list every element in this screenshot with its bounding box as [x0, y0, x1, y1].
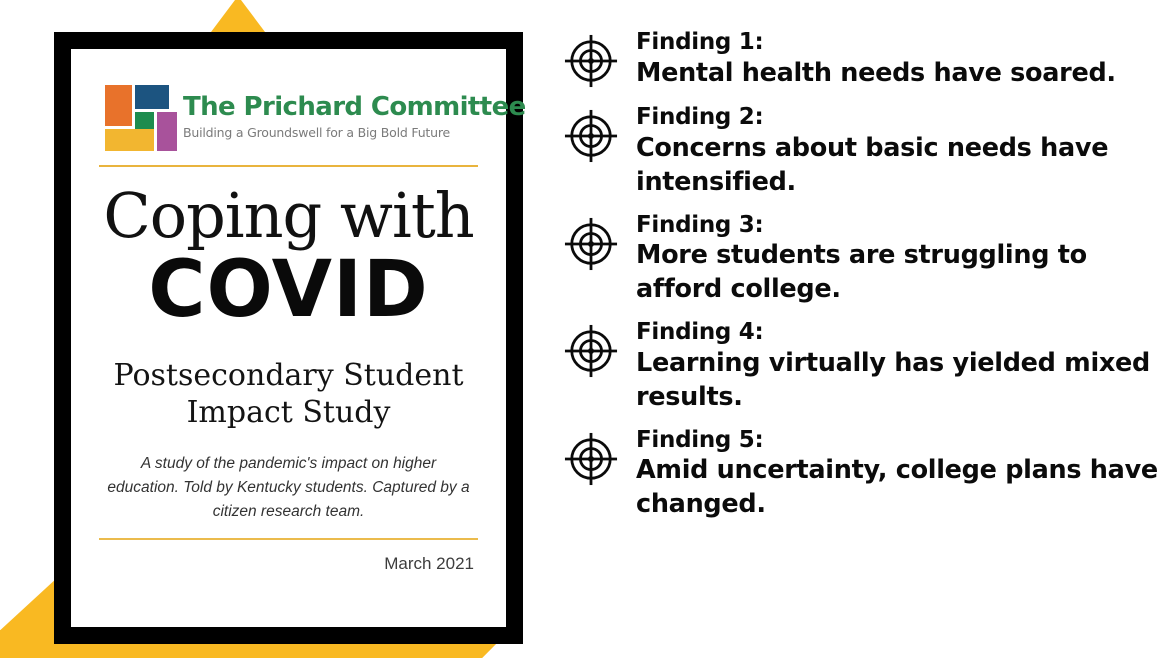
finding-statement: Mental health needs have soared. — [636, 58, 1116, 88]
finding-text: Finding 2: Concerns about basic needs ha… — [636, 101, 1170, 200]
crosshair-target-icon — [560, 213, 622, 275]
crosshair-target-icon — [560, 105, 622, 167]
list-item: Finding 1: Mental health needs have soar… — [560, 26, 1170, 92]
finding-text: Finding 3: More students are struggling … — [636, 209, 1170, 308]
finding-text: Finding 1: Mental health needs have soar… — [636, 26, 1116, 91]
divider-top — [99, 165, 478, 167]
finding-label: Finding 1: — [636, 29, 763, 55]
crosshair-target-icon — [560, 428, 622, 490]
crosshair-target-icon — [560, 320, 622, 382]
finding-text: Finding 4: Learning virtually has yielde… — [636, 316, 1170, 415]
finding-statement: Amid uncertainty, college plans have cha… — [636, 455, 1158, 519]
report-cover-inner: The Prichard Committee Building a Ground… — [71, 49, 506, 627]
logo-wordmark: The Prichard Committee Building a Ground… — [183, 94, 526, 139]
finding-statement: More students are struggling to afford c… — [636, 240, 1087, 304]
finding-statement: Learning virtually has yielded mixed res… — [636, 348, 1150, 412]
finding-label: Finding 4: — [636, 319, 763, 345]
cover-publication-date: March 2021 — [99, 554, 478, 574]
prichard-committee-logo-mark — [105, 85, 169, 149]
slide-canvas: The Prichard Committee Building a Ground… — [0, 0, 1170, 658]
yellow-triangle-top-decoration — [208, 0, 268, 36]
finding-statement: Concerns about basic needs have intensif… — [636, 133, 1108, 197]
finding-label: Finding 5: — [636, 427, 763, 453]
finding-label: Finding 2: — [636, 104, 763, 130]
logo-square-yellow — [105, 129, 154, 151]
findings-list: Finding 1: Mental health needs have soar… — [560, 26, 1170, 531]
divider-bottom — [99, 538, 478, 540]
logo-square-purple — [157, 112, 177, 151]
cover-title-line-1: Coping with — [99, 185, 478, 247]
organization-tagline: Building a Groundswell for a Big Bold Fu… — [183, 125, 526, 140]
list-item: Finding 5: Amid uncertainty, college pla… — [560, 424, 1170, 523]
list-item: Finding 2: Concerns about basic needs ha… — [560, 101, 1170, 200]
cover-title-block: Coping with COVID — [99, 185, 478, 331]
finding-text: Finding 5: Amid uncertainty, college pla… — [636, 424, 1170, 523]
list-item: Finding 4: Learning virtually has yielde… — [560, 316, 1170, 415]
logo-square-orange — [105, 85, 132, 126]
finding-label: Finding 3: — [636, 212, 763, 238]
cover-description: A study of the pandemic's impact on high… — [99, 452, 478, 524]
organization-logo: The Prichard Committee Building a Ground… — [99, 85, 478, 149]
organization-name: The Prichard Committee — [183, 94, 526, 121]
logo-square-blue — [135, 85, 169, 109]
crosshair-target-icon — [560, 30, 622, 92]
cover-title-line-2: COVID — [99, 251, 478, 331]
list-item: Finding 3: More students are struggling … — [560, 209, 1170, 308]
report-cover-card: The Prichard Committee Building a Ground… — [54, 32, 523, 644]
cover-subtitle: Postsecondary Student Impact Study — [99, 357, 478, 432]
